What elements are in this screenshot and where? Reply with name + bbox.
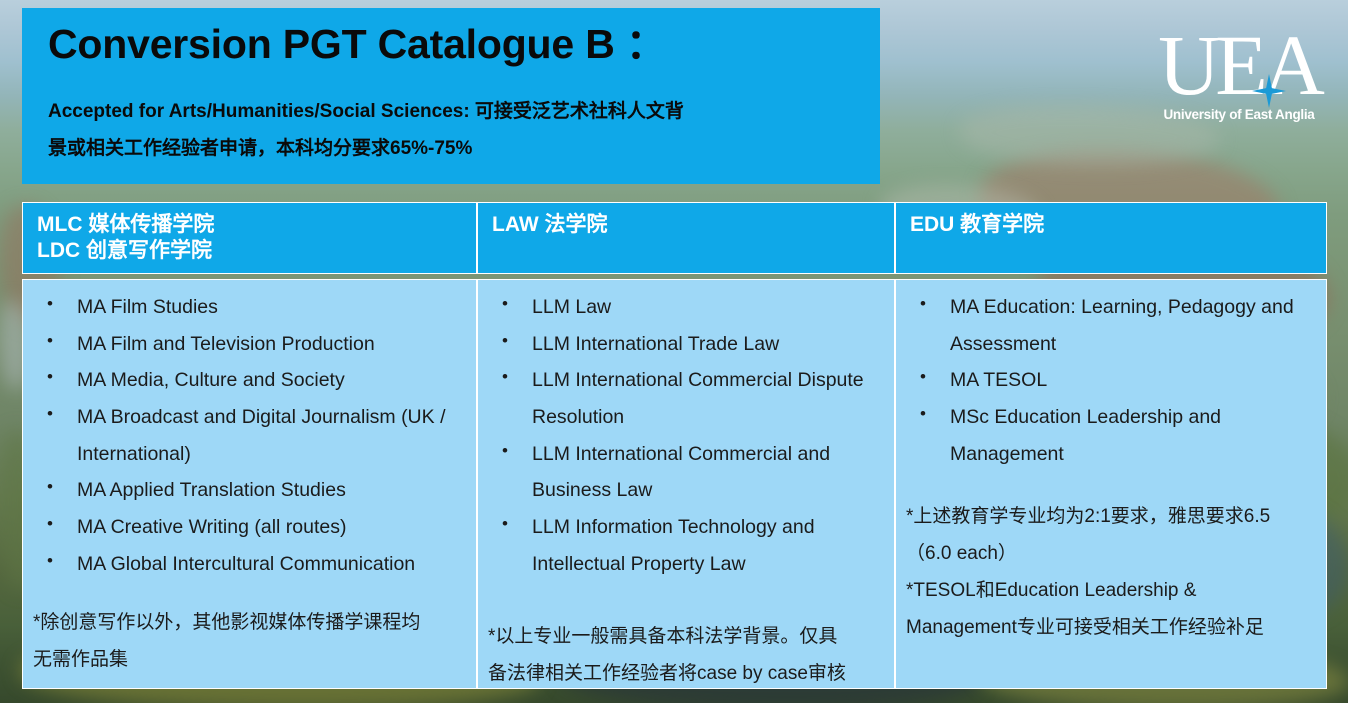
catalogue-table: MLC 媒体传播学院 LDC 创意写作学院 LAW 法学院 EDU 教育学院 M… — [22, 202, 1327, 689]
note-block-law: *以上专业一般需具备本科法学背景。仅具 备法律相关工作经验者将case by c… — [488, 618, 884, 689]
table-header-law-line-1: LAW 法学院 — [492, 212, 894, 238]
table-header-mlc-ldc-line-1: MLC 媒体传播学院 — [37, 212, 476, 238]
table-header-mlc-ldc-line-2: LDC 创意写作学院 — [37, 238, 476, 264]
page-subtitle-line-2: 景或相关工作经验者申请，本科均分要求65%-75% — [48, 130, 858, 167]
note-block-edu: *上述教育学专业均为2:1要求，雅思要求6.5 （6.0 each） *TESO… — [906, 498, 1316, 646]
list-item: LLM Information Technology and Intellect… — [488, 509, 884, 582]
title-banner: Conversion PGT Catalogue B ： Accepted fo… — [22, 8, 880, 184]
list-item: MA Film Studies — [33, 289, 466, 326]
note-line: 无需作品集 — [33, 641, 466, 678]
list-item: LLM International Commercial and Busines… — [488, 436, 884, 509]
note-line: *除创意写作以外，其他影视媒体传播学课程均 — [33, 604, 466, 641]
table-cell-edu: MA Education: Learning, Pedagogy and Ass… — [895, 279, 1327, 689]
table-body-row: MA Film Studies MA Film and Television P… — [22, 279, 1327, 689]
note-line: 备法律相关工作经验者将case by case审核 — [488, 655, 884, 689]
four-point-star-icon — [1252, 74, 1286, 108]
note-line: *TESOL和Education Leadership & — [906, 572, 1316, 609]
list-item: MA Applied Translation Studies — [33, 472, 466, 509]
uea-wordmark: UEA — [1144, 26, 1334, 105]
list-item: MA Media, Culture and Society — [33, 362, 466, 399]
list-item: MA Broadcast and Digital Journalism (UK … — [33, 399, 466, 472]
list-item: MA Film and Television Production — [33, 326, 466, 363]
note-line: *上述教育学专业均为2:1要求，雅思要求6.5 — [906, 498, 1316, 535]
note-line: （6.0 each） — [906, 535, 1316, 572]
list-item: MA TESOL — [906, 362, 1316, 399]
list-item: MA Creative Writing (all routes) — [33, 509, 466, 546]
list-item: MSc Education Leadership and Management — [906, 399, 1316, 472]
table-header-mlc-ldc: MLC 媒体传播学院 LDC 创意写作学院 — [22, 202, 477, 274]
course-list-law: LLM Law LLM International Trade Law LLM … — [488, 289, 884, 582]
note-block-mlc-ldc: *除创意写作以外，其他影视媒体传播学课程均 无需作品集 — [33, 604, 466, 678]
list-item: MA Global Intercultural Communication — [33, 546, 466, 583]
page-title: Conversion PGT Catalogue B ： — [48, 22, 858, 67]
list-item: LLM International Trade Law — [488, 326, 884, 363]
table-header-row: MLC 媒体传播学院 LDC 创意写作学院 LAW 法学院 EDU 教育学院 — [22, 202, 1327, 274]
table-header-law: LAW 法学院 — [477, 202, 895, 274]
uea-logo: UEA University of East Anglia — [1144, 26, 1334, 148]
table-header-edu-line-1: EDU 教育学院 — [910, 212, 1326, 238]
note-line: *以上专业一般需具备本科法学背景。仅具 — [488, 618, 884, 655]
list-item: LLM Law — [488, 289, 884, 326]
page-subtitle: Accepted for Arts/Humanities/Social Scie… — [48, 93, 858, 167]
table-cell-law: LLM Law LLM International Trade Law LLM … — [477, 279, 895, 689]
list-item: MA Education: Learning, Pedagogy and Ass… — [906, 289, 1316, 362]
course-list-edu: MA Education: Learning, Pedagogy and Ass… — [906, 289, 1316, 472]
table-header-edu: EDU 教育学院 — [895, 202, 1327, 274]
page-subtitle-line-1: Accepted for Arts/Humanities/Social Scie… — [48, 93, 858, 130]
note-line: Management专业可接受相关工作经验补足 — [906, 609, 1316, 646]
table-cell-mlc-ldc: MA Film Studies MA Film and Television P… — [22, 279, 477, 689]
list-item: LLM International Commercial Dispute Res… — [488, 362, 884, 435]
course-list-mlc-ldc: MA Film Studies MA Film and Television P… — [33, 289, 466, 582]
